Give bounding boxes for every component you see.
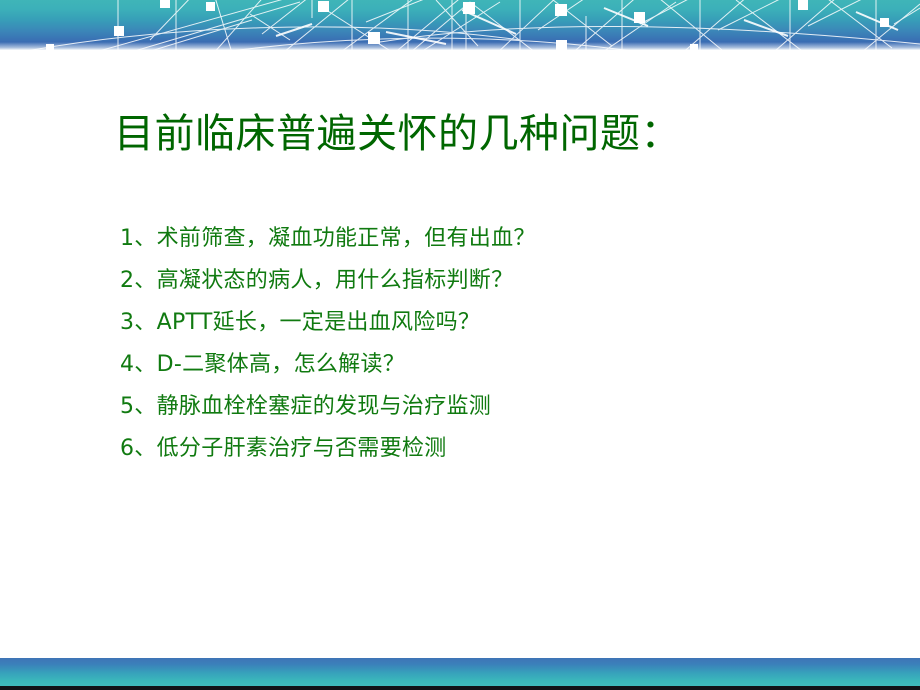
slide-title: 目前临床普遍关怀的几种问题： (114, 112, 681, 156)
question-list: 1、术前筛查，凝血功能正常，但有出血？ 2、高凝状态的病人，用什么指标判断？ 3… (120, 218, 840, 470)
list-item: 2、高凝状态的病人，用什么指标判断？ (120, 260, 840, 302)
slide-bottom-edge (0, 686, 920, 690)
slide-content-area: 目前临床普遍关怀的几种问题： 1、术前筛查，凝血功能正常，但有出血？ 2、高凝状… (0, 50, 920, 658)
list-item: 3、APTT延长，一定是出血风险吗？ (120, 302, 840, 344)
presentation-slide: 目前临床普遍关怀的几种问题： 1、术前筛查，凝血功能正常，但有出血？ 2、高凝状… (0, 0, 920, 690)
list-item: 4、D-二聚体高，怎么解读？ (120, 344, 840, 386)
list-item: 1、术前筛查，凝血功能正常，但有出血？ (120, 218, 840, 260)
top-decorative-banner (0, 0, 920, 50)
list-item: 6、低分子肝素治疗与否需要检测 (120, 428, 840, 470)
banner-bottom-fade (0, 42, 920, 50)
bottom-decorative-bar (0, 658, 920, 686)
list-item: 5、静脉血栓栓塞症的发现与治疗监测 (120, 386, 840, 428)
